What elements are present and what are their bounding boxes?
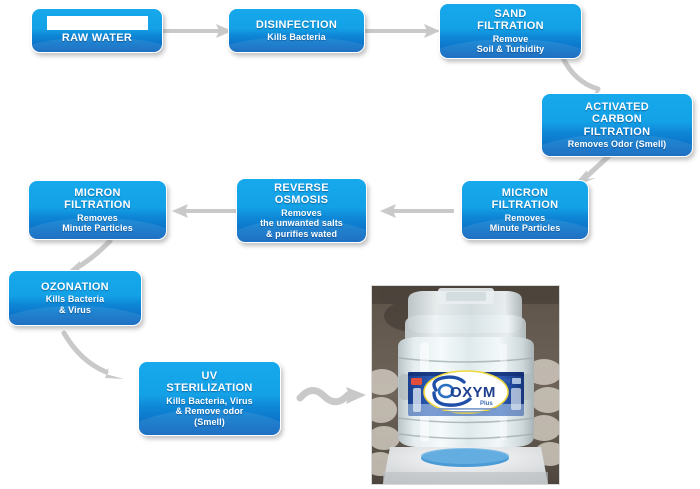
- arrow-disinfection-to-sand-filtration: [362, 20, 444, 42]
- step-subtitle-line-1: Removes: [77, 213, 118, 224]
- step-title: RAW WATER: [62, 32, 132, 45]
- step-subtitle-line-2: Soil & Turbidity: [477, 44, 544, 55]
- step-title-line-1: SAND: [494, 8, 526, 21]
- step-title-line-2: FILTRATION: [477, 20, 544, 33]
- step-subtitle-line-2: & Virus: [59, 305, 91, 316]
- step-subtitle-line-2: the unwanted salts: [260, 218, 343, 229]
- step-title-line-1: OZONATION: [41, 281, 109, 294]
- step-subtitle-line-3: & purifies wated: [266, 229, 337, 240]
- step-subtitle-line-1: Removes: [281, 208, 322, 219]
- step-title-line-1: REVERSE: [274, 182, 329, 195]
- step-title: DISINFECTION: [256, 19, 337, 32]
- arrow-micron-filtration-1-to-reverse-osmosis: [370, 200, 458, 222]
- process-step-activated-carbon-filtration[interactable]: ACTIVATED CARBON FILTRATION Removes Odor…: [541, 93, 693, 157]
- process-flow-diagram: RAW WATER DISINFECTION Kills Bacteria SA…: [0, 0, 700, 489]
- step-title-line-2: STERILIZATION: [166, 382, 252, 395]
- step-subtitle-line-2: Minute Particles: [490, 223, 561, 234]
- blank-label-strip: [47, 16, 148, 30]
- step-subtitle-line-3: (Smell): [194, 417, 225, 428]
- step-subtitle-line-1: Removes: [505, 213, 546, 224]
- step-subtitle: Kills Bacteria: [267, 32, 325, 43]
- step-subtitle-line-2: Minute Particles: [62, 223, 133, 234]
- step-title-line-1: MICRON: [74, 187, 120, 200]
- step-subtitle-line-1: Kills Bacteria, Virus: [166, 396, 252, 407]
- step-title-line-1: ACTIVATED: [585, 101, 649, 114]
- process-step-raw-water[interactable]: RAW WATER: [31, 8, 163, 53]
- step-subtitle-line-1: Remove: [493, 34, 529, 45]
- product-photo-water-jar: OXYM Plus TM: [371, 285, 560, 485]
- svg-text:Plus: Plus: [480, 401, 493, 407]
- step-title-line-2: FILTRATION: [492, 199, 559, 212]
- process-step-reverse-osmosis[interactable]: REVERSE OSMOSIS Removes the unwanted sal…: [236, 178, 367, 243]
- process-step-micron-filtration-2[interactable]: MICRON FILTRATION Removes Minute Particl…: [28, 180, 167, 240]
- step-title-line-1: UV: [202, 370, 218, 383]
- step-title-line-2: FILTRATION: [64, 199, 131, 212]
- process-step-sand-filtration[interactable]: SAND FILTRATION Remove Soil & Turbidity: [439, 3, 582, 59]
- process-step-uv-sterilization[interactable]: UV STERILIZATION Kills Bacteria, Virus &…: [138, 361, 281, 436]
- arrow-uv-sterilization-to-product: [296, 382, 374, 416]
- process-step-micron-filtration-1[interactable]: MICRON FILTRATION Removes Minute Particl…: [461, 180, 589, 240]
- arrow-reverse-osmosis-to-micron-filtration-2: [166, 200, 240, 222]
- svg-text:TM: TM: [503, 379, 510, 385]
- arrow-raw-water-to-disinfection: [160, 20, 236, 42]
- process-step-ozonation[interactable]: OZONATION Kills Bacteria & Virus: [8, 270, 142, 326]
- step-subtitle-line-1: Removes Odor (Smell): [568, 139, 667, 150]
- step-subtitle-line-2: & Remove odor: [176, 406, 244, 417]
- step-title-line-1: MICRON: [502, 187, 548, 200]
- process-step-disinfection[interactable]: DISINFECTION Kills Bacteria: [228, 8, 365, 53]
- step-title-line-2: OSMOSIS: [275, 194, 328, 207]
- step-title-line-3: FILTRATION: [584, 126, 651, 139]
- step-subtitle-line-1: Kills Bacteria: [46, 294, 104, 305]
- step-title-line-2: CARBON: [592, 113, 642, 126]
- svg-text:OXYM: OXYM: [450, 384, 496, 401]
